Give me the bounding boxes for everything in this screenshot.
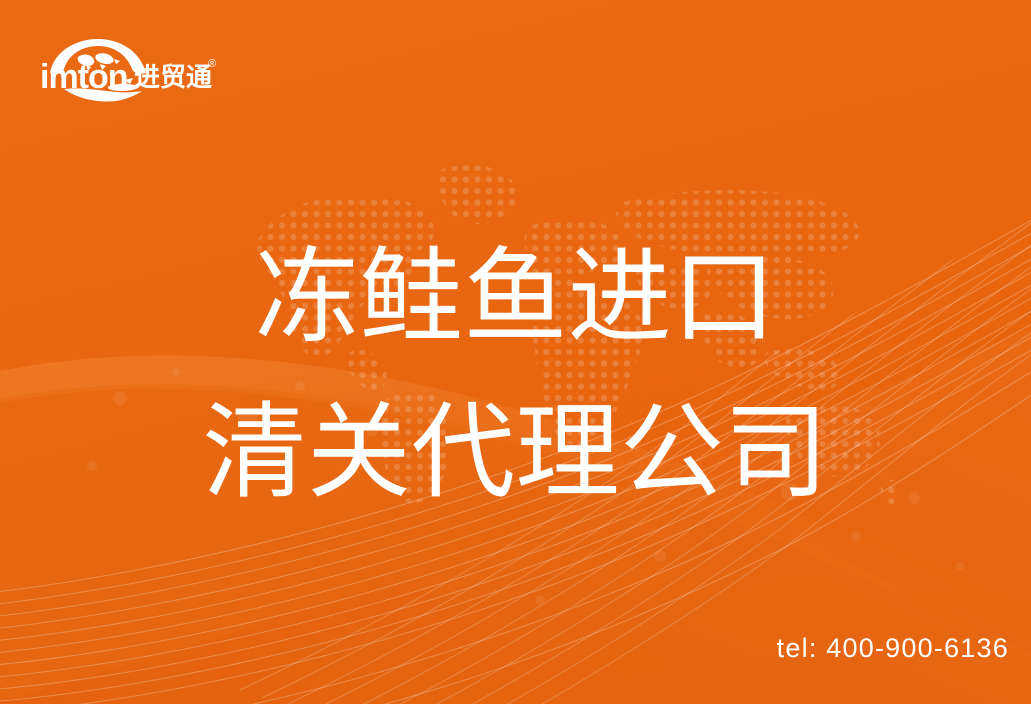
headline-line-2: 清关代理公司 [0, 387, 1031, 520]
brand-logo[interactable]: imton 进贸通 ® [38, 33, 218, 105]
headline-line-1: 冻鲑鱼进口 [0, 232, 1031, 365]
logo-wordmark-chinese: 进贸通 [134, 62, 212, 92]
headline-block: 冻鲑鱼进口 清关代理公司 [0, 232, 1031, 520]
contact-phone: tel: 400-900-6136 [777, 633, 1009, 664]
poster-canvas: imton 进贸通 ® 冻鲑鱼进口 清关代理公司 tel: 400-900-61… [0, 0, 1031, 704]
logo-wordmark-latin: imton [40, 58, 128, 96]
logo-trademark-symbol: ® [208, 58, 216, 70]
